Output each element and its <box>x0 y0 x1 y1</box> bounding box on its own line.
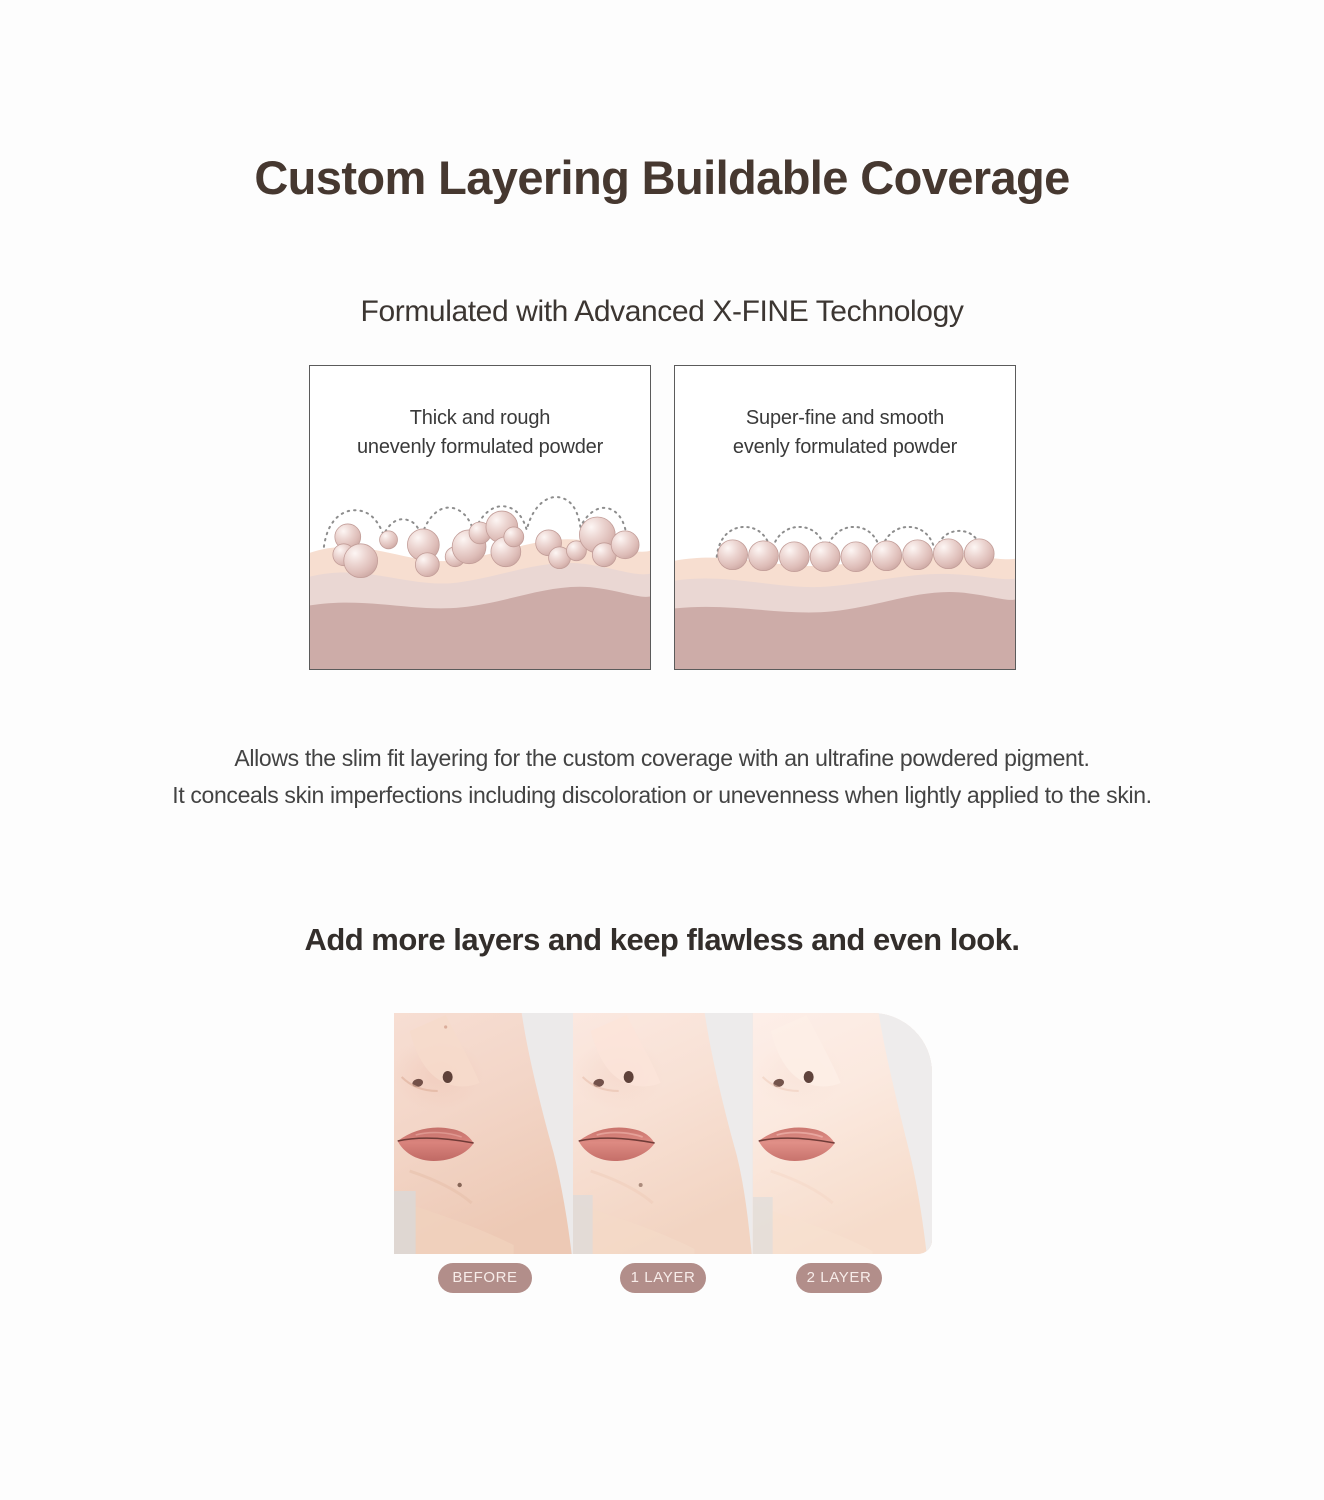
product-infographic-page: Custom Layering Buildable Coverage Formu… <box>0 0 1324 1500</box>
panel-caption-super-fine: Super-fine and smooth evenly formulated … <box>675 404 1015 462</box>
page-title: Custom Layering Buildable Coverage <box>0 150 1324 205</box>
powder-comparison: Thick and rough unevenly formulated powd… <box>309 365 1016 670</box>
caption-line-2: unevenly formulated powder <box>310 433 650 462</box>
photo-2-layer <box>753 1013 932 1254</box>
panel-caption-thick-rough: Thick and rough unevenly formulated powd… <box>310 404 650 462</box>
description-line-2: It conceals skin imperfections including… <box>0 777 1324 814</box>
badge-1-layer: 1 LAYER <box>620 1263 706 1293</box>
photo-before <box>394 1013 573 1254</box>
caption-line-2: evenly formulated powder <box>675 433 1015 462</box>
panel-thick-rough: Thick and rough unevenly formulated powd… <box>309 365 651 670</box>
technology-subtitle: Formulated with Advanced X-FINE Technolo… <box>0 295 1324 329</box>
description-paragraph: Allows the slim fit layering for the cus… <box>0 740 1324 815</box>
panel-super-fine: Super-fine and smooth evenly formulated … <box>674 365 1016 670</box>
badge-before: BEFORE <box>438 1263 532 1293</box>
photo-1-layer <box>573 1013 752 1254</box>
layering-heading: Add more layers and keep flawless and ev… <box>0 922 1324 958</box>
caption-line-1: Super-fine and smooth <box>675 404 1015 433</box>
badge-2-layer: 2 LAYER <box>796 1263 882 1293</box>
layering-photo-strip <box>394 1013 932 1254</box>
photo-badges: BEFORE 1 LAYER 2 LAYER <box>394 1263 932 1293</box>
caption-line-1: Thick and rough <box>310 404 650 433</box>
description-line-1: Allows the slim fit layering for the cus… <box>0 740 1324 777</box>
